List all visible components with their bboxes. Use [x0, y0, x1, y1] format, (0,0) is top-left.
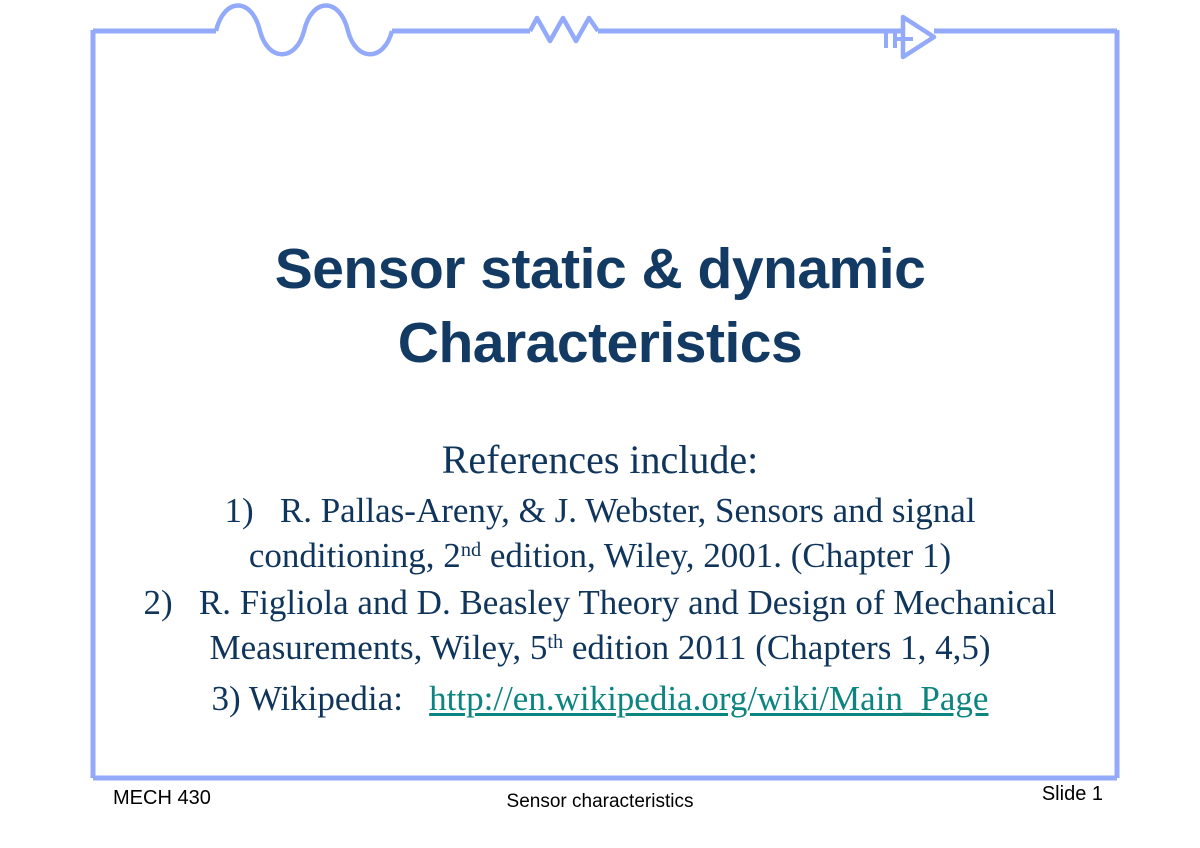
reference-1-line-2-pre: conditioning, 2 — [249, 536, 461, 575]
footer-topic: Sensor characteristics — [0, 791, 1200, 813]
footer-slide-number: Slide 1 — [1042, 783, 1103, 806]
reference-2-line-2-pre: Measurements, Wiley, 5 — [210, 628, 548, 667]
reference-3-marker: 3) — [212, 679, 241, 718]
slide-footer: MECH 430 Sensor characteristics Slide 1 — [0, 783, 1200, 823]
reference-item-1: 1) R. Pallas-Areny, & J. Webster, Sensor… — [120, 488, 1080, 578]
amplifier-triangle — [903, 17, 934, 57]
reference-1-marker: 1) — [224, 491, 253, 530]
reference-2-line-2-post: edition 2011 (Chapters 1, 4,5) — [563, 628, 990, 667]
reference-item-2: 2) R. Figliola and D. Beasley Theory and… — [120, 580, 1080, 670]
title-line-1: Sensor static & dynamic — [150, 232, 1050, 306]
slide-canvas: Sensor static & dynamic Characteristics … — [0, 0, 1200, 848]
reference-1-line-2-post: edition, Wiley, 2001. (Chapter 1) — [481, 536, 951, 575]
wikipedia-hyperlink[interactable]: http://en.wikipedia.org/wiki/Main_Page — [429, 679, 988, 718]
inductor-coil — [216, 6, 392, 55]
reference-3-label: Wikipedia: — [249, 679, 403, 718]
reference-2-line-1: R. Figliola and D. Beasley Theory and De… — [199, 583, 1057, 622]
resistor-zigzag — [530, 18, 598, 41]
reference-2-ordinal-suffix: th — [547, 631, 563, 653]
page-title: Sensor static & dynamic Characteristics — [150, 232, 1050, 380]
references-heading: References include: — [120, 434, 1080, 486]
reference-1-line-1: R. Pallas-Areny, & J. Webster, Sensors a… — [280, 491, 976, 530]
reference-item-3: 3) Wikipedia: http://en.wikipedia.org/wi… — [120, 676, 1080, 721]
references-block: References include: 1) R. Pallas-Areny, … — [120, 434, 1080, 721]
reference-1-ordinal-suffix: nd — [461, 539, 481, 561]
title-line-2: Characteristics — [150, 306, 1050, 380]
reference-2-marker: 2) — [143, 583, 172, 622]
